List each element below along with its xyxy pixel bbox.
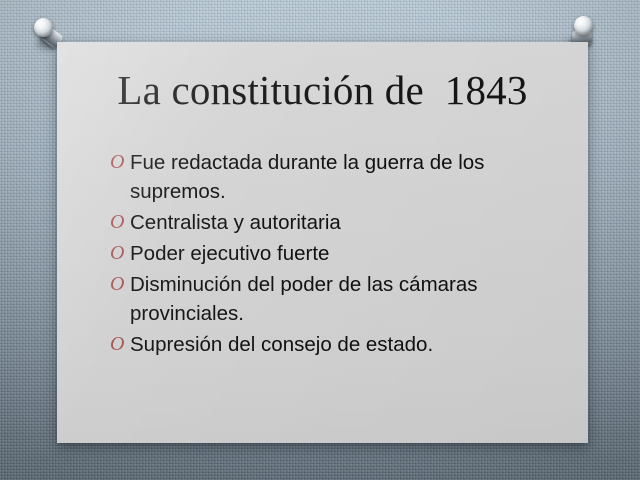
list-item: O Poder ejecutivo fuerte (110, 239, 562, 268)
list-item: O Supresión del consejo de estado. (110, 330, 562, 359)
list-item: O Fue redactada durante la guerra de los… (110, 148, 562, 206)
bullet-marker-icon: O (110, 208, 130, 237)
bullet-list: O Fue redactada durante la guerra de los… (110, 148, 562, 361)
list-item-label: Centralista y autoritaria (130, 208, 500, 237)
bullet-marker-icon: O (110, 239, 130, 268)
presentation-slide: La constitución de 1843 O Fue redactada … (0, 0, 640, 480)
slide-title: La constitución de 1843 (57, 69, 588, 112)
bullet-marker-icon: O (110, 270, 130, 299)
bullet-marker-icon: O (110, 330, 130, 359)
list-item-label: Poder ejecutivo fuerte (130, 239, 500, 268)
list-item-label: Disminución del poder de las cámaras pro… (130, 270, 500, 328)
list-item: O Disminución del poder de las cámaras p… (110, 270, 562, 328)
list-item: O Centralista y autoritaria (110, 208, 562, 237)
slide-card: La constitución de 1843 O Fue redactada … (57, 42, 588, 443)
pushpin-head (34, 18, 53, 37)
pushpin-head (574, 16, 593, 35)
bullet-marker-icon: O (110, 148, 130, 177)
list-item-label: Fue redactada durante la guerra de los s… (130, 148, 500, 206)
list-item-label: Supresión del consejo de estado. (130, 330, 500, 359)
